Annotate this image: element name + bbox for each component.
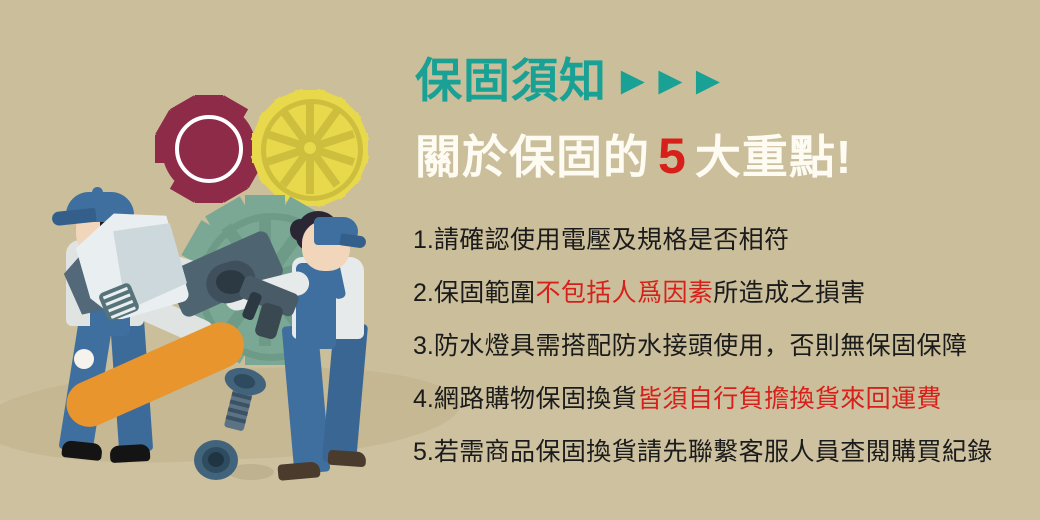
list-item-index: 1. (413, 226, 434, 254)
nut-hole (208, 452, 224, 467)
headline-secondary: 關於保固的5大重點! (415, 131, 852, 181)
headline-primary-text: 保固須知 (415, 57, 607, 104)
warranty-notice-banner: 保固須知 ►►► 關於保固的5大重點! 1.請確認使用電壓及規格是否相符2.保固… (0, 0, 1040, 520)
list-item-text: 若需商品保固換貨請先聯繫客服人員查閱購買紀錄 (434, 438, 993, 466)
maroon-gear-icon (155, 95, 263, 203)
list-item-text: 保固範圍 (434, 279, 536, 307)
list-item: 2.保固範圍不包括人爲因素所造成之損害 (413, 281, 1038, 306)
list-item: 4.網路購物保固換貨皆須自行負擔換貨來回運費 (413, 387, 1038, 412)
power-tool-grip (254, 302, 285, 341)
headline-secondary-suffix: 大重點! (695, 131, 852, 183)
list-item-index: 3. (413, 332, 434, 360)
worker-left-shoe (61, 440, 103, 461)
worker-right-shoe (277, 461, 320, 481)
headline-primary: 保固須知 ►►► (415, 57, 726, 104)
arrow-triangles-icon: ►►► (613, 61, 726, 101)
power-tool-icon (206, 262, 316, 352)
warranty-notice-list: 1.請確認使用電壓及規格是否相符2.保固範圍不包括人爲因素所造成之損害3.防水燈… (413, 228, 1038, 493)
headline-count-number: 5 (650, 128, 695, 184)
worker-left-cap-button (92, 187, 103, 198)
list-item: 1.請確認使用電壓及規格是否相符 (413, 228, 1038, 253)
headline-secondary-prefix: 關於保固的 (415, 131, 650, 183)
wrench-handle-dot (74, 349, 94, 369)
list-item-text: 防水燈具需搭配防水接頭使用，否則無保固保障 (434, 332, 967, 360)
nut-icon (194, 440, 238, 480)
list-item: 5.若需商品保固換貨請先聯繫客服人員查閱購買紀錄 (413, 440, 1038, 465)
yellow-gear-icon (252, 90, 368, 206)
text-column: 保固須知 ►►► 關於保固的5大重點! 1.請確認使用電壓及規格是否相符2.保固… (408, 0, 1040, 520)
list-item-text: 所造成之損害 (713, 279, 865, 307)
list-item-highlight: 皆須自行負擔換貨來回運費 (637, 385, 942, 413)
list-item: 3.防水燈具需搭配防水接頭使用，否則無保固保障 (413, 334, 1038, 359)
list-item-index: 2. (413, 279, 434, 307)
worker-right-shoe (328, 450, 367, 468)
list-item-index: 4. (413, 385, 434, 413)
list-item-text: 請確認使用電壓及規格是否相符 (434, 226, 790, 254)
list-item-text: 網路購物保固換貨 (434, 385, 637, 413)
worker-left-shoe (110, 444, 151, 463)
list-item-highlight: 不包括人爲因素 (535, 279, 713, 307)
illustration (0, 0, 400, 520)
list-item-index: 5. (413, 438, 434, 466)
